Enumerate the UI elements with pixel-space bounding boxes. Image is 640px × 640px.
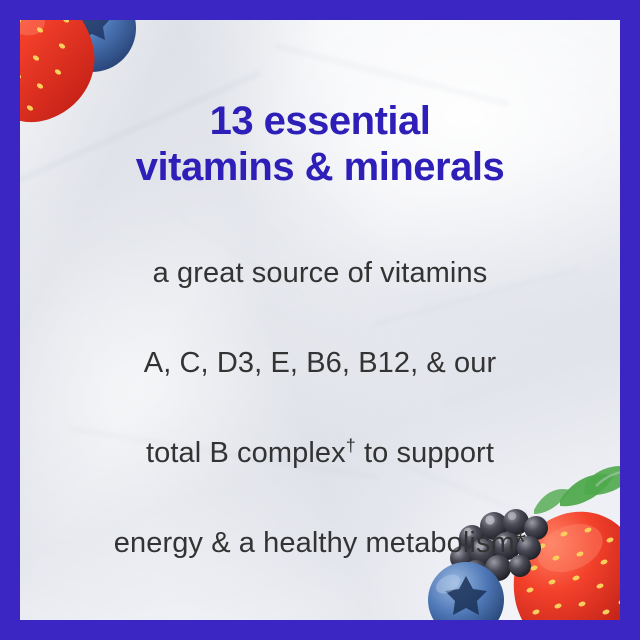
product-benefits-panel: 13 essential vitamins & minerals a great… xyxy=(0,0,640,640)
body-line-2: A, C, D3, E, B6, B12, & our xyxy=(114,341,526,386)
body-line-3: total B complex† to support xyxy=(114,431,526,476)
primary-headline: 13 essential vitamins & minerals xyxy=(136,98,504,190)
marble-background: 13 essential vitamins & minerals a great… xyxy=(20,20,620,620)
primary-body-copy: a great source of vitamins A, C, D3, E, … xyxy=(114,206,526,611)
copy-stack: 13 essential vitamins & minerals a great… xyxy=(20,20,620,620)
body-line-1: a great source of vitamins xyxy=(114,251,526,296)
dagger-symbol: † xyxy=(346,435,356,455)
body-line-3-post: to support xyxy=(356,437,494,469)
body-line-4: energy & a healthy metabolism* xyxy=(114,521,526,566)
body-line-3-pre: total B complex xyxy=(146,437,346,469)
